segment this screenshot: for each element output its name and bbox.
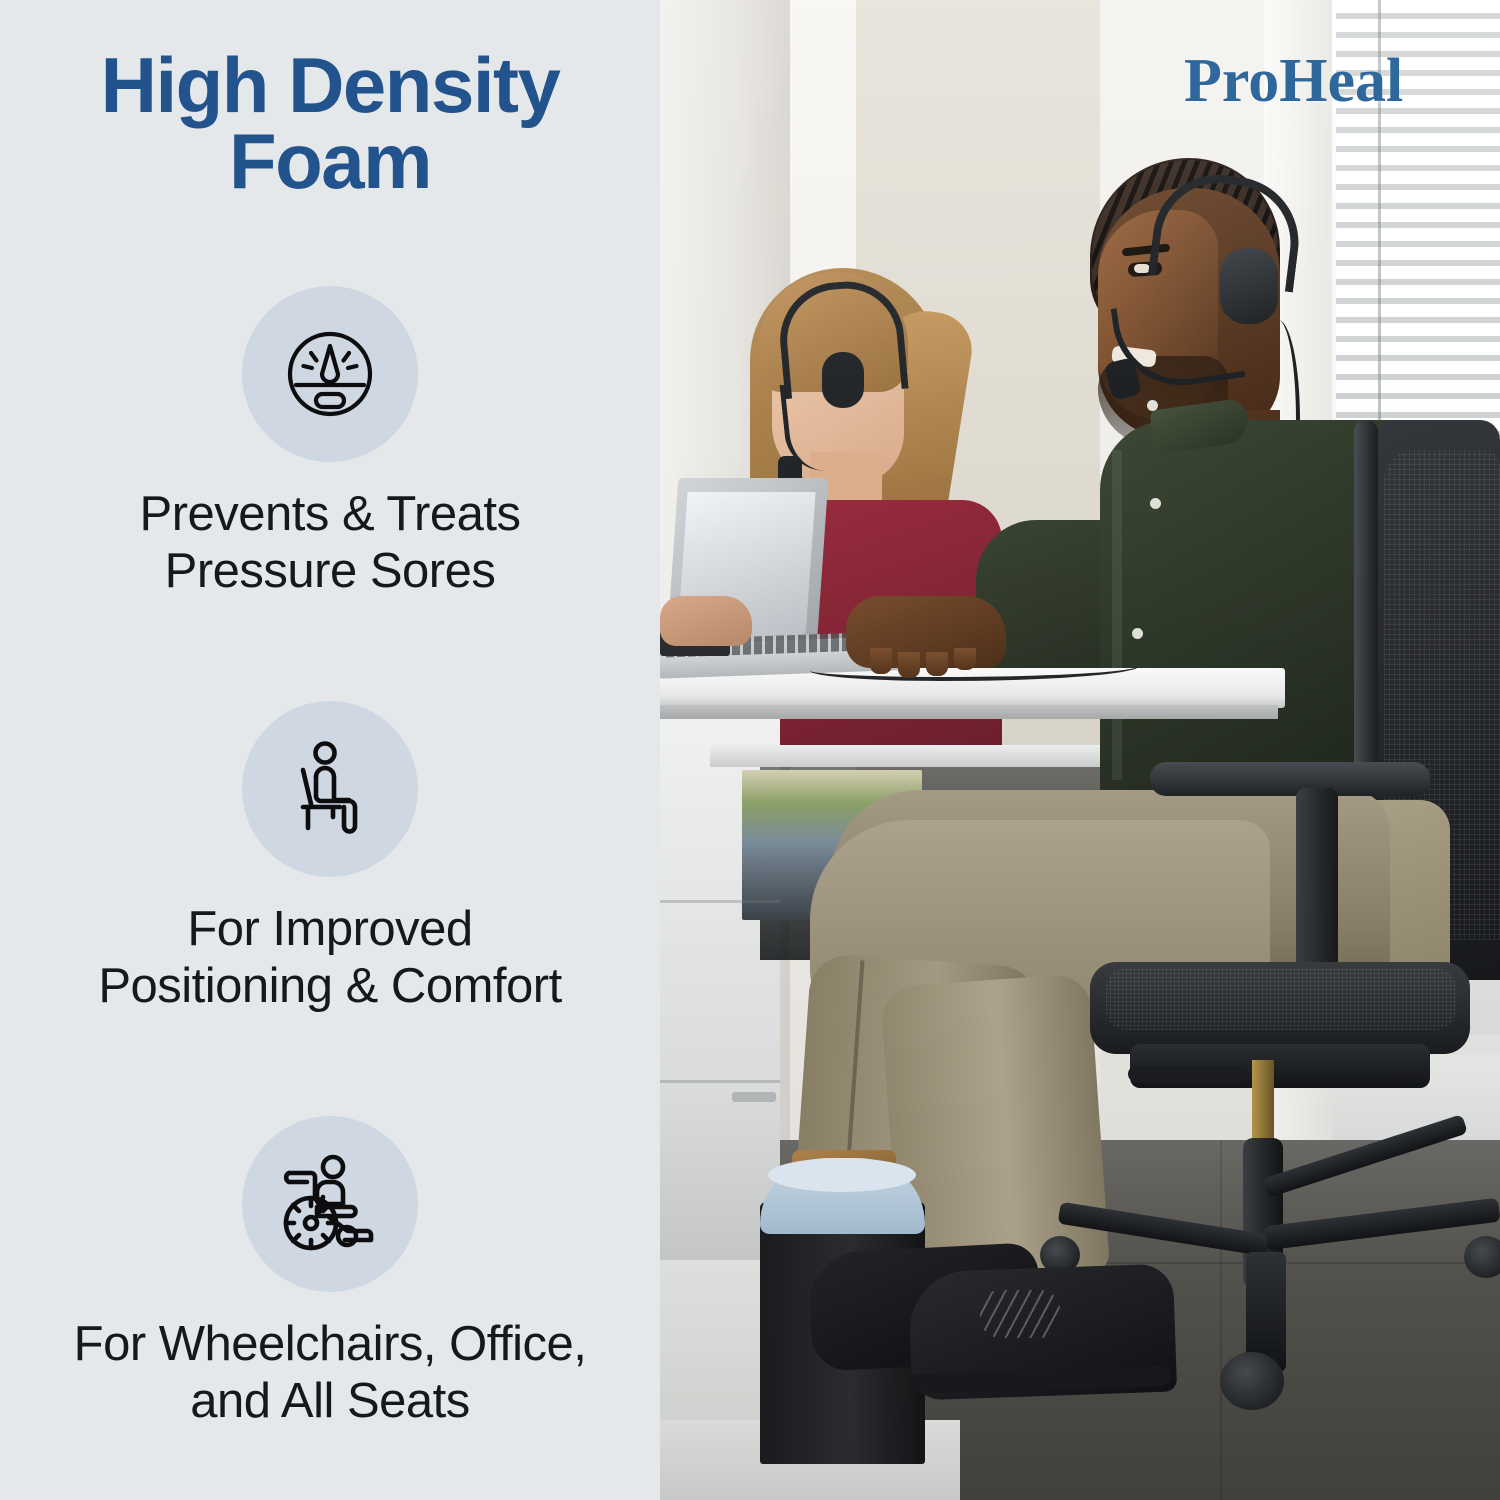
woman-hand <box>660 596 752 646</box>
drawer-seam <box>660 1080 780 1083</box>
pressure-gauge-icon <box>278 322 382 426</box>
page-title: High Density Foam <box>0 48 660 199</box>
feature-3-line-1: For Wheelchairs, Office, <box>14 1316 646 1373</box>
icon-badge <box>242 286 418 462</box>
seated-person-icon <box>278 737 382 841</box>
office-chair-armrest <box>1150 762 1430 796</box>
floor-seam <box>1220 1140 1222 1500</box>
feature-1-line-1: Prevents & Treats <box>14 486 646 543</box>
office-chair-caster <box>1220 1352 1284 1410</box>
office-chair-seat-mesh <box>1106 968 1456 1030</box>
man-shirt-button <box>1150 498 1161 509</box>
man-finger <box>870 648 892 674</box>
feature-3-line-2: and All Seats <box>14 1373 646 1430</box>
feature-2-line-1: For Improved <box>14 901 646 958</box>
man-shirt-button <box>1147 400 1158 411</box>
office-chair-height-lever <box>1128 1066 1248 1082</box>
man-shirt-placket <box>1112 450 1122 780</box>
man-finger <box>954 648 976 670</box>
man-finger <box>926 652 948 676</box>
feature-item-wheelchairs: For Wheelchairs, Office, and All Seats <box>0 1116 660 1430</box>
office-chair-gas-cylinder-upper <box>1252 1060 1274 1150</box>
man-shirt-button <box>1132 628 1143 639</box>
headline-line-1: High Density <box>0 48 660 124</box>
wheelchair-user-icon <box>277 1151 383 1257</box>
feature-item-pressure-sores: Prevents & Treats Pressure Sores <box>0 286 660 600</box>
feature-2-line-2: Positioning & Comfort <box>14 958 646 1015</box>
drawer-seam <box>660 900 780 903</box>
feature-caption: For Wheelchairs, Office, and All Seats <box>0 1316 660 1430</box>
feature-caption: Prevents & Treats Pressure Sores <box>0 486 660 600</box>
proheal-logo: ProHeal <box>1184 50 1403 112</box>
headline-line-2: Foam <box>0 124 660 200</box>
feature-1-line-2: Pressure Sores <box>14 543 646 600</box>
feature-caption: For Improved Positioning & Comfort <box>0 901 660 1015</box>
desk-edge <box>660 705 1278 719</box>
drawer-handle <box>732 1092 776 1102</box>
trash-bin-liner-rim <box>768 1158 916 1192</box>
icon-badge <box>242 701 418 877</box>
left-feature-panel: High Density Foam <box>0 0 660 1500</box>
office-chair-caster <box>1464 1236 1500 1278</box>
man-shoe-laces <box>980 1290 1060 1338</box>
lifestyle-photo: ProHeal <box>660 0 1500 1500</box>
feature-item-positioning: For Improved Positioning & Comfort <box>0 701 660 1015</box>
desk-keyboard-tray <box>710 745 1140 767</box>
icon-badge <box>242 1116 418 1292</box>
product-feature-graphic: High Density Foam <box>0 0 1500 1500</box>
man-finger <box>898 652 920 678</box>
